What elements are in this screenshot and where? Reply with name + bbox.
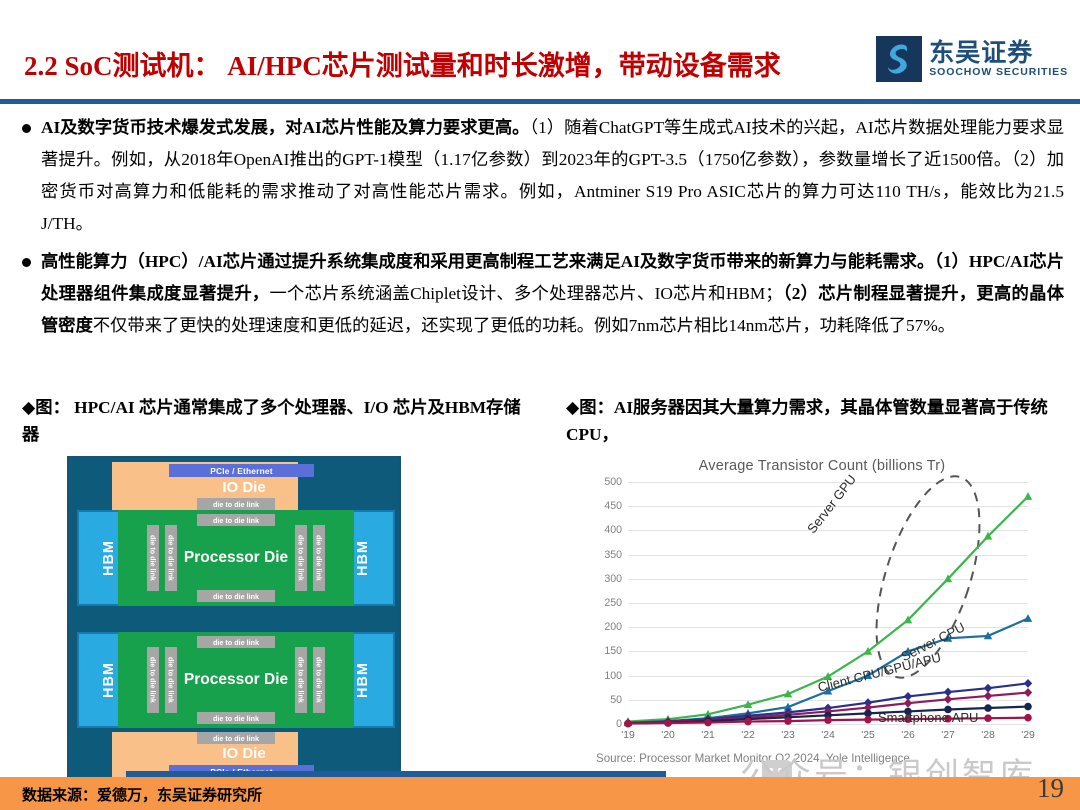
chart-marker bbox=[744, 718, 752, 726]
soochow-logo-icon bbox=[876, 36, 922, 82]
die-link-upper: die to die link bbox=[197, 514, 275, 526]
pcie-ethernet-label-top: PCIe / Ethernet bbox=[169, 464, 314, 477]
logo-name-en: SOOCHOW SECURITIES bbox=[929, 66, 1068, 78]
chart-y-tick: 200 bbox=[604, 621, 622, 633]
die-link-vertical-0: die to die link bbox=[147, 647, 159, 713]
chart-marker bbox=[984, 684, 992, 693]
chart-marker bbox=[1024, 714, 1032, 722]
brand-logo: 东吴证券 SOOCHOW SECURITIES bbox=[876, 36, 1068, 82]
chart-y-tick: 150 bbox=[604, 645, 622, 657]
bullet-text-1: AI及数字货币技术爆发式发展，对AI芯片性能及算力要求更高。（1）随着ChatG… bbox=[41, 112, 1064, 240]
die-link-upper: die to die link bbox=[197, 636, 275, 648]
chart-x-tick: '22 bbox=[741, 730, 755, 741]
chart-marker bbox=[1024, 614, 1032, 622]
figure-caption-left: ◆图： HPC/AI 芯片通常集成了多个处理器、I/O 芯片及HBM存储器 bbox=[22, 394, 522, 448]
bullet-item: 高性能算力（HPC）/AI芯片通过提升系统集成度和采用更高制程工艺来满足AI及数… bbox=[22, 246, 1064, 342]
bullet-dot-icon bbox=[22, 258, 31, 267]
chart-y-tick: 500 bbox=[604, 476, 622, 488]
chart-marker bbox=[1024, 679, 1032, 688]
die-link-vertical-0: die to die link bbox=[147, 525, 159, 591]
hbm-label: HBM bbox=[355, 662, 371, 698]
figure-caption-right: ◆图：AI服务器因其大量算力需求，其晶体管数量显著高于传统CPU， bbox=[566, 394, 1076, 448]
page-number: 19 bbox=[1037, 773, 1064, 804]
die-link-bottom-io: die to die link bbox=[197, 732, 275, 744]
chart-marker bbox=[824, 716, 832, 724]
chart-marker bbox=[784, 717, 792, 725]
chart-marker bbox=[1024, 688, 1032, 697]
chart-marker bbox=[1024, 703, 1032, 711]
chart-marker bbox=[624, 720, 632, 728]
bullet-text-2: 高性能算力（HPC）/AI芯片通过提升系统集成度和采用更高制程工艺来满足AI及数… bbox=[41, 246, 1064, 342]
chart-x-tick: '25 bbox=[861, 730, 875, 741]
chart-y-tick: 50 bbox=[610, 694, 622, 706]
die-link-vertical-3: die to die link bbox=[295, 525, 307, 591]
chart-x-tick: '28 bbox=[981, 730, 995, 741]
footer-source: 数据来源：爱德万，东吴证券研究所 bbox=[22, 784, 262, 805]
chart-marker bbox=[864, 716, 872, 724]
chart-x-tick: '26 bbox=[901, 730, 915, 741]
die-link-vertical-2: die to die link bbox=[313, 647, 325, 713]
chart-y-tick: 450 bbox=[604, 500, 622, 512]
chart-x-tick: '23 bbox=[781, 730, 795, 741]
chart-x-tick: '24 bbox=[821, 730, 835, 741]
chart-y-tick: 100 bbox=[604, 670, 622, 682]
die-link-top-io: die to die link bbox=[197, 498, 275, 510]
chart-x-tick: '20 bbox=[661, 730, 675, 741]
die-link-lower: die to die link bbox=[197, 712, 275, 724]
slide-root: 2.2 SoC测试机： AI/HPC芯片测试量和时长激增，带动设备需求 东吴证券… bbox=[0, 0, 1080, 810]
chart-marker bbox=[984, 692, 992, 701]
chart-marker bbox=[664, 719, 672, 727]
logo-name-cn: 东吴证券 bbox=[929, 40, 1068, 66]
chart-x-tick: '29 bbox=[1021, 730, 1035, 741]
hbm-label: HBM bbox=[355, 540, 371, 576]
processor-row-bottom: HBMHBMProcessor Diedie to die linkdie to… bbox=[73, 632, 399, 728]
body-content: AI及数字货币技术爆发式发展，对AI芯片性能及算力要求更高。（1）随着ChatG… bbox=[22, 112, 1064, 348]
io-die-label-bottom: IO Die bbox=[151, 745, 337, 765]
header-divider bbox=[0, 99, 1080, 104]
logo-text: 东吴证券 SOOCHOW SECURITIES bbox=[929, 40, 1068, 78]
chart-marker bbox=[944, 695, 952, 704]
die-link-vertical-3: die to die link bbox=[295, 647, 307, 713]
chart-y-tick: 300 bbox=[604, 573, 622, 585]
bullet-item: AI及数字货币技术爆发式发展，对AI芯片性能及算力要求更高。（1）随着ChatG… bbox=[22, 112, 1064, 240]
die-link-lower: die to die link bbox=[197, 590, 275, 602]
chart-marker bbox=[904, 699, 912, 708]
bullet-dot-icon bbox=[22, 124, 31, 133]
transistor-count-chart: Average Transistor Count (billions Tr) 0… bbox=[572, 456, 1072, 786]
processor-row-top: HBMHBMProcessor Diedie to die linkdie to… bbox=[73, 510, 399, 606]
chart-marker bbox=[704, 719, 712, 727]
die-link-vertical-2: die to die link bbox=[313, 525, 325, 591]
chart-series-annotation-3: Smartphone APU bbox=[878, 710, 978, 725]
chip-diagram: PCIe / EthernetIO Diedie to die linkHBMH… bbox=[67, 456, 401, 786]
die-link-vertical-1: die to die link bbox=[165, 647, 177, 713]
page-title: 2.2 SoC测试机： AI/HPC芯片测试量和时长激增，带动设备需求 bbox=[24, 44, 781, 83]
chart-plot-area: 050100150200250300350400450500'19'20'21'… bbox=[628, 482, 1028, 724]
chart-y-tick: 400 bbox=[604, 524, 622, 536]
slide-header: 2.2 SoC测试机： AI/HPC芯片测试量和时长激增，带动设备需求 东吴证券… bbox=[0, 0, 1080, 103]
chart-title: Average Transistor Count (billions Tr) bbox=[572, 458, 1072, 474]
chart-x-tick: '27 bbox=[941, 730, 955, 741]
chart-y-tick: 0 bbox=[616, 718, 622, 730]
io-die-label-top: IO Die bbox=[151, 479, 337, 499]
die-link-vertical-1: die to die link bbox=[165, 525, 177, 591]
chart-y-tick: 350 bbox=[604, 549, 622, 561]
hbm-label: HBM bbox=[101, 540, 117, 576]
chart-x-tick: '21 bbox=[701, 730, 715, 741]
slide-footer: 数据来源：爱德万，东吴证券研究所 19 bbox=[0, 777, 1080, 810]
chart-marker bbox=[1024, 492, 1032, 500]
chip-diagram-inner: PCIe / EthernetIO Diedie to die linkHBMH… bbox=[73, 462, 395, 780]
hbm-label: HBM bbox=[101, 662, 117, 698]
chart-y-tick: 250 bbox=[604, 597, 622, 609]
chart-marker bbox=[984, 704, 992, 712]
chart-x-tick: '19 bbox=[621, 730, 635, 741]
chart-source: Source: Processor Market Monitor Q2 2024… bbox=[596, 752, 910, 765]
chart-marker bbox=[984, 714, 992, 722]
